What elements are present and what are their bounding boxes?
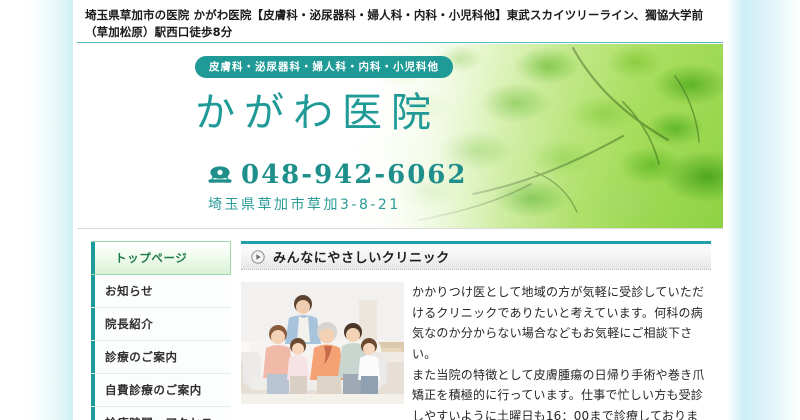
intro-block: かかりつけ医として地域の方が気軽に受診していただけるクリニックでありたいと考えて… (241, 282, 711, 420)
sidebar-item-label: 院長紹介 (105, 317, 153, 331)
title-divider (77, 42, 723, 43)
sidebar-item-label: トップページ (115, 251, 187, 265)
section-heading-bar: みんなにやさしいクリニック (241, 241, 711, 270)
main-content: みんなにやさしいクリニック (241, 236, 711, 420)
intro-paragraph-1: かかりつけ医として地域の方が気軽に受診していただけるクリニックでありたいと考えて… (412, 282, 711, 365)
sidebar-item-label: お知らせ (105, 284, 153, 298)
sidebar-nav: トップページ お知らせ 院長紹介 診療のご案内 自費診療のご案内 診療時間・アク… (91, 241, 231, 420)
specialty-badge: 皮膚科・泌尿器科・婦人科・内科・小児科他 (195, 56, 453, 78)
play-circle-icon (251, 250, 265, 264)
sidebar-item-self-pay-guide[interactable]: 自費診療のご案内 (91, 374, 231, 407)
sidebar-item-label: 診療時間・アクセス (105, 416, 213, 420)
page-title: 埼玉県草加市の医院 かがわ医院【皮膚科・泌尿器科・婦人科・内科・小児科他】東武ス… (73, 0, 727, 45)
family-on-sofa-photo (241, 282, 404, 404)
intro-text: かかりつけ医として地域の方が気軽に受診していただけるクリニックでありたいと考えて… (412, 282, 711, 420)
sidebar-item-director-profile[interactable]: 院長紹介 (91, 308, 231, 341)
sidebar-item-label: 診療のご案内 (105, 350, 178, 364)
site-header-banner: 皮膚科・泌尿器科・婦人科・内科・小児科他 かがわ医院 048-942-6062 … (77, 44, 723, 228)
sidebar-item-label: 自費診療のご案内 (105, 383, 202, 397)
page-content-column: 埼玉県草加市の医院 かがわ医院【皮膚科・泌尿器科・婦人科・内科・小児科他】東武ス… (73, 0, 727, 420)
clinic-address: 埼玉県草加市草加3-8-21 (208, 194, 401, 214)
sidebar-item-news[interactable]: お知らせ (91, 275, 231, 308)
section-heading-title: みんなにやさしいクリニック (273, 247, 450, 266)
telephone-icon (207, 165, 233, 185)
sidebar-item-hours-access[interactable]: 診療時間・アクセス (91, 407, 231, 420)
main-layout: トップページ お知らせ 院長紹介 診療のご案内 自費診療のご案内 診療時間・アク… (73, 236, 727, 420)
intro-paragraph-2: また当院の特徴として皮膚腫瘍の日帰り手術や巻き爪矯正を積極的に行っています。仕事… (412, 365, 711, 420)
page-viewport: 埼玉県草加市の医院 かがわ医院【皮膚科・泌尿器科・婦人科・内科・小児科他】東武ス… (0, 0, 800, 420)
page-background-right-gradient (727, 0, 800, 420)
header-bottom-divider (77, 228, 723, 229)
sidebar-item-medical-guide[interactable]: 診療のご案内 (91, 341, 231, 374)
clinic-name: かがわ医院 (195, 80, 440, 138)
phone-number: 048-942-6062 (241, 160, 468, 190)
sidebar-item-top-page[interactable]: トップページ (91, 241, 231, 275)
phone-block: 048-942-6062 (207, 160, 468, 190)
